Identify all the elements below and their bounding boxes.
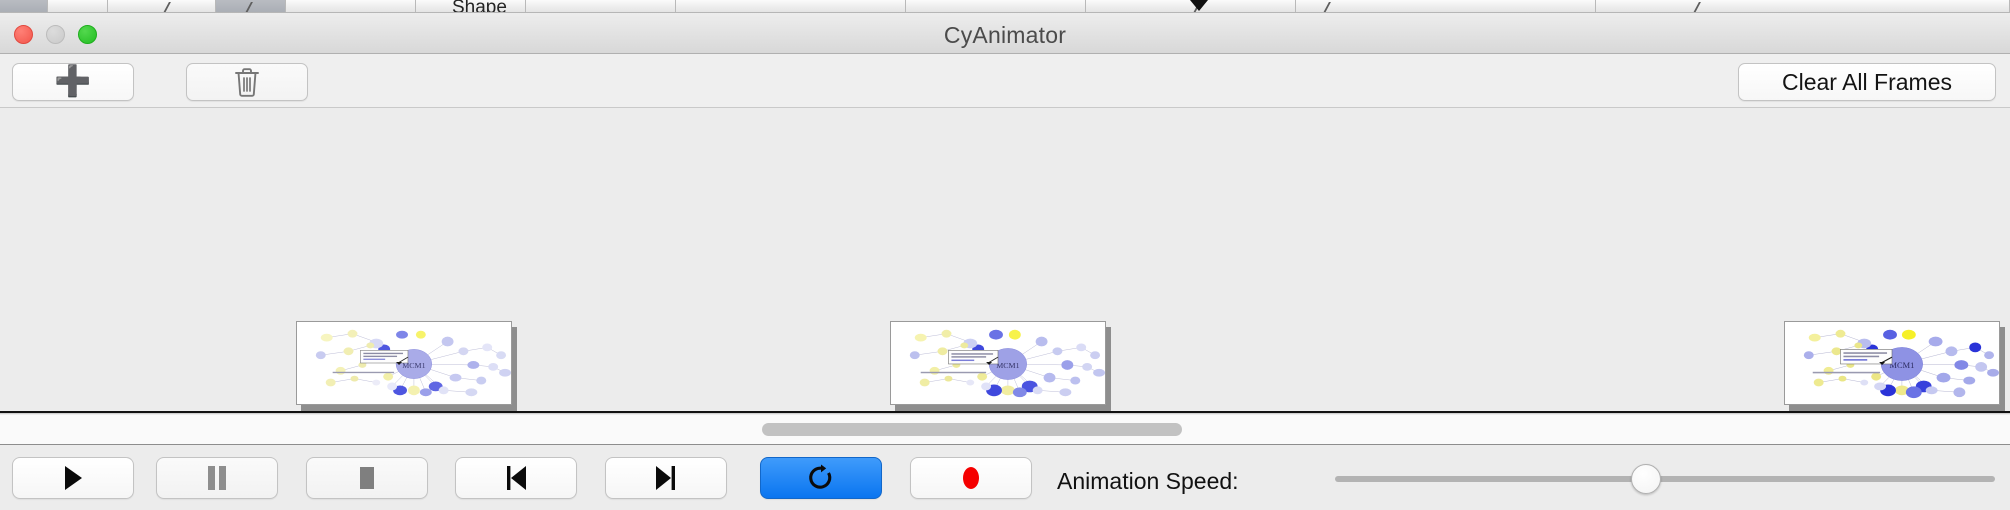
network-preview: MCM1 [1785, 322, 1999, 404]
pause-button[interactable] [156, 457, 278, 499]
plus-icon: ➕ [54, 67, 91, 97]
play-icon [62, 465, 84, 491]
skip-forward-button[interactable] [605, 457, 727, 499]
stop-button[interactable] [306, 457, 428, 499]
loop-button[interactable] [760, 457, 882, 499]
record-button[interactable] [910, 457, 1032, 499]
record-icon [960, 465, 982, 491]
network-preview: MCM1 [297, 322, 511, 404]
network-graph-mid: MCM1 [891, 322, 1105, 404]
scrollbar-thumb[interactable] [762, 423, 1182, 436]
animation-speed-slider-thumb[interactable] [1631, 464, 1661, 494]
svg-text:MCM1: MCM1 [996, 361, 1019, 370]
timeline-scrollbar[interactable] [0, 415, 2010, 445]
frame-thumbnail: MCM1 [1784, 321, 2000, 405]
network-graph-pale: MCM1 [297, 322, 511, 404]
timeline-panel[interactable]: MCM1 [0, 109, 2010, 414]
stop-icon [356, 465, 378, 491]
network-graph-bold: MCM1 [1785, 322, 1999, 404]
timeline-frame[interactable]: MCM1 [890, 321, 1106, 405]
timeline-frame[interactable]: MCM1 [1784, 321, 2000, 405]
loop-icon [808, 464, 834, 492]
skip-forward-icon [653, 465, 679, 491]
animation-speed-label: Animation Speed: [1057, 468, 1239, 495]
skip-back-button[interactable] [455, 457, 577, 499]
window-title: CyAnimator [0, 22, 2010, 49]
skip-back-icon [503, 465, 529, 491]
trash-icon [234, 67, 260, 97]
svg-text:MCM1: MCM1 [1890, 361, 1915, 370]
frame-thumbnail: MCM1 [296, 321, 512, 405]
animation-speed-slider[interactable] [1335, 476, 1995, 482]
playback-controls: Animation Speed: [0, 446, 2010, 510]
delete-frame-button[interactable] [186, 63, 308, 101]
cyanimator-window: Shape CyAnimator ➕ Clear All Frames [0, 0, 2010, 510]
background-window-strip: Shape [0, 0, 2010, 13]
frame-thumbnail: MCM1 [890, 321, 1106, 405]
play-button[interactable] [12, 457, 134, 499]
network-preview: MCM1 [891, 322, 1105, 404]
add-frame-button[interactable]: ➕ [12, 63, 134, 101]
clear-all-frames-button[interactable]: Clear All Frames [1738, 63, 1996, 101]
timeline-axis [0, 411, 2010, 414]
timeline-frame[interactable]: MCM1 [296, 321, 512, 405]
clear-all-frames-label: Clear All Frames [1782, 69, 1952, 96]
title-bar[interactable]: CyAnimator [0, 13, 2010, 54]
toolbar: ➕ Clear All Frames [0, 54, 2010, 108]
background-window-label: Shape [452, 0, 507, 13]
pause-icon [205, 465, 229, 491]
